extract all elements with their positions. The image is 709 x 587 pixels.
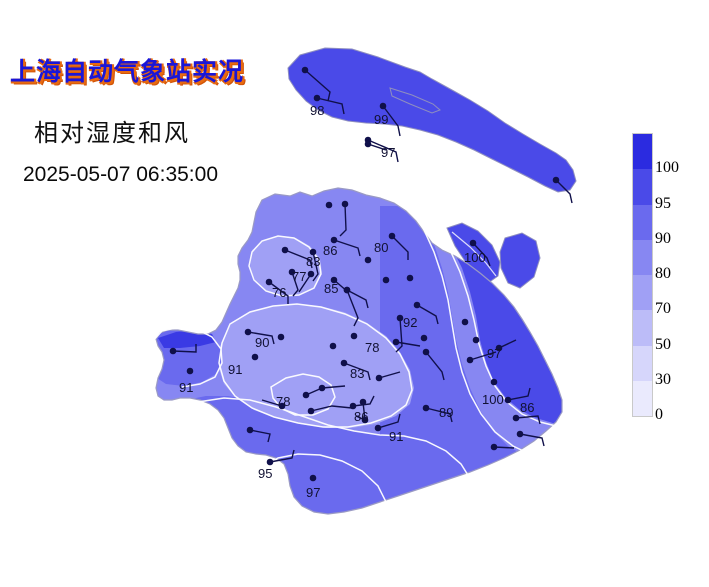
page-title: 上海自动气象站实况 xyxy=(10,52,244,88)
colorbar-tick-90: 90 xyxy=(655,231,671,247)
colorbar-band-50 xyxy=(633,310,652,345)
station-label: 77 xyxy=(292,269,306,284)
colorbar-band-30 xyxy=(633,346,652,381)
station-label: 90 xyxy=(255,335,269,350)
station-label: 98 xyxy=(310,103,324,118)
station-label: 100 xyxy=(464,250,486,265)
colorbar-tick-30: 30 xyxy=(655,372,671,388)
station-label: 97 xyxy=(306,485,320,500)
colorbar-ticks: 1009590807050300 xyxy=(655,133,705,415)
station-label: 92 xyxy=(403,315,417,330)
region-hengsha xyxy=(500,233,540,288)
station-label: 86 xyxy=(520,400,534,415)
colorbar-tick-70: 70 xyxy=(655,301,671,317)
observation-timestamp: 2025-05-07 06:35:00 xyxy=(23,163,218,187)
station-label: 85 xyxy=(324,281,338,296)
subtitle: 相对湿度和风 xyxy=(34,113,190,148)
station-label: 78 xyxy=(365,340,379,355)
station-label: 83 xyxy=(306,254,320,269)
station-label: 100 xyxy=(482,392,504,407)
station-label: 83 xyxy=(350,366,364,381)
colorbar-band-0 xyxy=(633,381,652,416)
colorbar-band-70 xyxy=(633,275,652,310)
colorbar-band-80 xyxy=(633,240,652,275)
colorbar-band-95 xyxy=(633,169,652,204)
colorbar-band-100 xyxy=(633,134,652,169)
colorbar-tick-0: 0 xyxy=(655,407,663,423)
colorbar-tick-50: 50 xyxy=(655,337,671,353)
colorbar-tick-95: 95 xyxy=(655,196,671,212)
station-label: 76 xyxy=(272,285,286,300)
region-chongming xyxy=(288,48,576,192)
weather-map-screenshot: 98 99 97 100 86 80 83 77 85 76 92 90 78 … xyxy=(0,0,709,587)
station-label: 97 xyxy=(381,145,395,160)
station-label: 80 xyxy=(374,240,388,255)
station-label: 78 xyxy=(276,394,290,409)
station-label: 97 xyxy=(487,346,501,361)
station-label: 91 xyxy=(389,429,403,444)
header: 上海自动气象站实况 相对湿度和风 2025-05-07 06:35:00 xyxy=(0,0,300,200)
colorbar-tick-100: 100 xyxy=(655,160,679,176)
station-label: 89 xyxy=(439,405,453,420)
colorbar-tick-80: 80 xyxy=(655,266,671,282)
station-label: 86 xyxy=(323,243,337,258)
colorbar xyxy=(632,133,653,417)
station-label: 86 xyxy=(354,409,368,424)
station-label: 91 xyxy=(179,380,193,395)
station-label: 91 xyxy=(228,362,242,377)
station-label: 95 xyxy=(258,466,272,481)
station-label: 99 xyxy=(374,112,388,127)
colorbar-band-90 xyxy=(633,205,652,240)
